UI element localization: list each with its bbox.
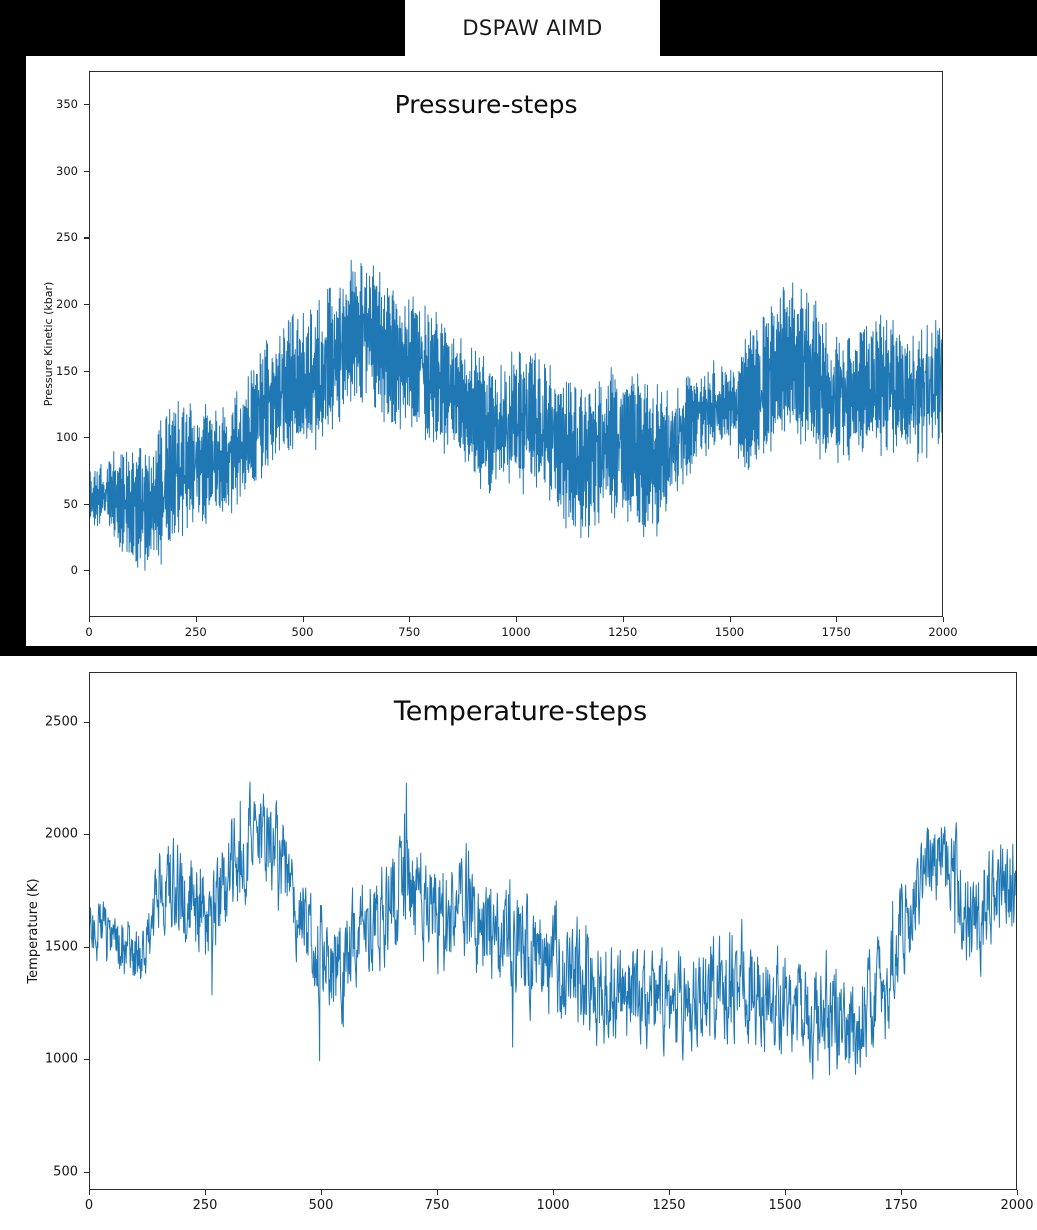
title-bar: DSPAW AIMD — [0, 0, 1037, 56]
x-ticklabel-pressure-2: 500 — [292, 625, 314, 639]
x-tick-pressure-7 — [836, 617, 837, 622]
x-tick-temperature-7 — [901, 1190, 902, 1195]
x-tick-temperature-4 — [553, 1190, 554, 1195]
y-tick-pressure-1 — [84, 504, 89, 505]
x-ticklabel-temperature-0: 0 — [85, 1198, 93, 1213]
y-tick-pressure-5 — [84, 237, 89, 238]
series-canvas-temperature — [90, 673, 1016, 1189]
x-tick-temperature-1 — [205, 1190, 206, 1195]
y-tick-pressure-0 — [84, 570, 89, 571]
x-ticklabel-pressure-4: 1000 — [501, 625, 530, 639]
x-ticklabel-temperature-6: 1500 — [768, 1198, 801, 1213]
x-tick-temperature-8 — [1017, 1190, 1018, 1195]
x-ticklabel-pressure-1: 250 — [185, 625, 207, 639]
x-ticklabel-temperature-5: 1250 — [652, 1198, 685, 1213]
plot-area-pressure: 0501001502002503003500250500750100012501… — [26, 56, 1037, 646]
y-tick-temperature-1 — [84, 1059, 89, 1060]
y-ticklabel-pressure-5: 250 — [26, 230, 78, 244]
plot-area-temperature: 5001000150020002500025050075010001250150… — [0, 656, 1037, 1230]
series-canvas-pressure — [90, 72, 942, 616]
x-ticklabel-temperature-8: 2000 — [1000, 1198, 1033, 1213]
y-axis-label-temperature: Temperature (K) — [26, 878, 41, 983]
x-ticklabel-pressure-8: 2000 — [928, 625, 957, 639]
y-tick-pressure-7 — [84, 104, 89, 105]
x-tick-pressure-4 — [516, 617, 517, 622]
letterbox-bar-left — [0, 56, 26, 646]
x-ticklabel-pressure-7: 1750 — [822, 625, 851, 639]
y-axis-label-pressure: Pressure Kinetic (kbar) — [42, 282, 55, 407]
x-tick-pressure-2 — [303, 617, 304, 622]
y-ticklabel-pressure-6: 300 — [26, 164, 78, 178]
x-ticklabel-pressure-6: 1500 — [715, 625, 744, 639]
x-tick-pressure-1 — [196, 617, 197, 622]
figure-pressure: 0501001502002503003500250500750100012501… — [26, 56, 1037, 646]
data-series-pressure — [90, 260, 942, 570]
y-tick-temperature-0 — [84, 1172, 89, 1173]
y-tick-temperature-4 — [84, 722, 89, 723]
y-tick-temperature-2 — [84, 947, 89, 948]
y-tick-pressure-6 — [84, 171, 89, 172]
x-tick-pressure-5 — [623, 617, 624, 622]
x-tick-pressure-6 — [730, 617, 731, 622]
y-ticklabel-pressure-0: 0 — [26, 563, 78, 577]
x-tick-pressure-0 — [89, 617, 90, 622]
y-ticklabel-temperature-3: 2000 — [0, 827, 78, 842]
x-ticklabel-pressure-5: 1250 — [608, 625, 637, 639]
y-ticklabel-temperature-0: 500 — [0, 1164, 78, 1179]
y-tick-temperature-3 — [84, 834, 89, 835]
x-tick-temperature-3 — [437, 1190, 438, 1195]
x-tick-temperature-0 — [89, 1190, 90, 1195]
y-tick-pressure-3 — [84, 371, 89, 372]
x-tick-pressure-3 — [409, 617, 410, 622]
data-series-temperature — [90, 782, 1016, 1079]
y-tick-pressure-2 — [84, 437, 89, 438]
title-tab: DSPAW AIMD — [405, 0, 660, 56]
y-ticklabel-pressure-2: 100 — [26, 430, 78, 444]
x-tick-temperature-2 — [321, 1190, 322, 1195]
x-ticklabel-temperature-2: 500 — [309, 1198, 334, 1213]
x-tick-temperature-5 — [669, 1190, 670, 1195]
y-tick-pressure-4 — [84, 304, 89, 305]
letterbox-bar-gap — [0, 646, 1037, 656]
x-ticklabel-temperature-4: 1000 — [536, 1198, 569, 1213]
x-ticklabel-pressure-3: 750 — [398, 625, 420, 639]
y-ticklabel-pressure-7: 350 — [26, 97, 78, 111]
page-title: DSPAW AIMD — [462, 16, 602, 40]
x-ticklabel-temperature-7: 1750 — [884, 1198, 917, 1213]
y-ticklabel-temperature-4: 2500 — [0, 714, 78, 729]
figure-temperature: 5001000150020002500025050075010001250150… — [0, 656, 1037, 1230]
y-ticklabel-temperature-1: 1000 — [0, 1052, 78, 1067]
x-ticklabel-pressure-0: 0 — [85, 625, 92, 639]
x-ticklabel-temperature-3: 750 — [425, 1198, 450, 1213]
x-tick-temperature-6 — [785, 1190, 786, 1195]
x-ticklabel-temperature-1: 250 — [193, 1198, 218, 1213]
x-tick-pressure-8 — [943, 617, 944, 622]
y-ticklabel-pressure-1: 50 — [26, 497, 78, 511]
